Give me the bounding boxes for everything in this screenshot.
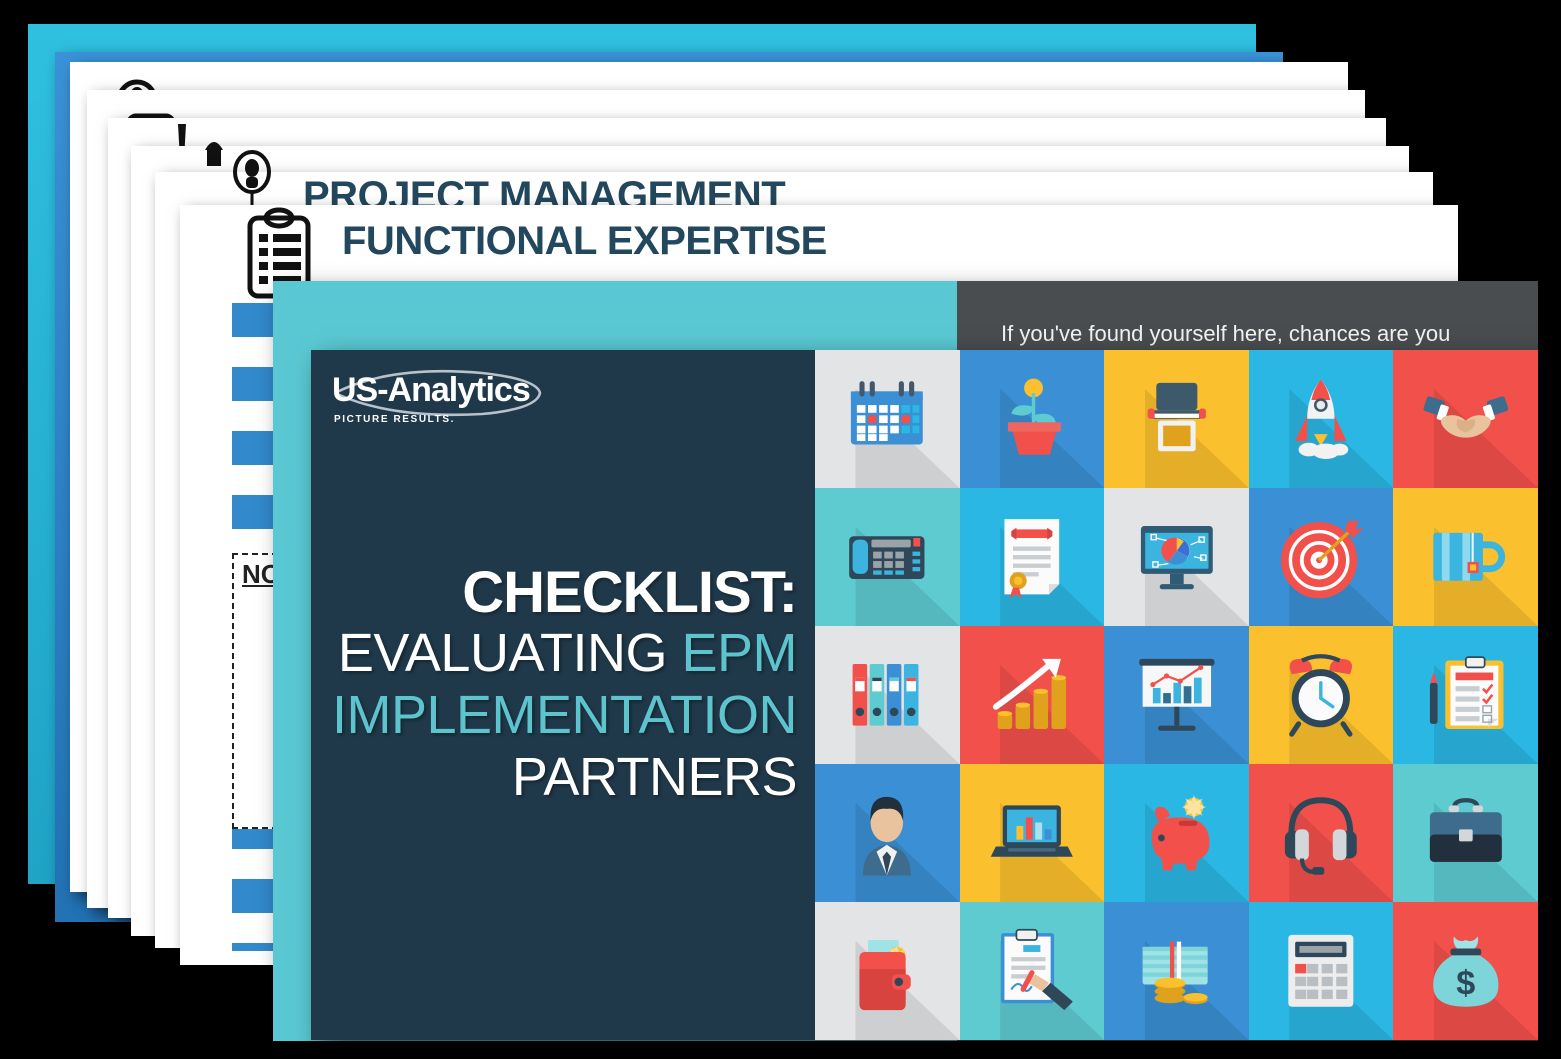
tile-calculator: [1249, 902, 1394, 1040]
cover-title: CHECKLIST: EVALUATING EPM IMPLEMENTATION…: [311, 562, 797, 808]
tile-money-bag: $: [1393, 902, 1538, 1040]
tile-monitor-pie-chart: [1104, 488, 1249, 626]
ebook-cover: US-Analytics PICTURE RESULTS. CHECKLIST:…: [311, 350, 1538, 1040]
cover-title-line-2-plain: EVALUATING: [338, 623, 682, 683]
content-page-body-text: If you've found yourself here, chances a…: [1001, 318, 1471, 350]
cover-title-line-2-accent: EPM: [681, 623, 797, 683]
icon-grid: $: [815, 350, 1538, 1040]
cover-title-line-2: EVALUATING EPM: [311, 623, 797, 685]
tile-target-dartboard: [1249, 488, 1394, 626]
stack-page-heading: FUNCTIONAL EXPERTISE: [342, 221, 827, 261]
tile-binders: [815, 626, 960, 764]
cover-title-line-1: CHECKLIST:: [311, 562, 797, 623]
tile-headset: [1249, 764, 1394, 902]
document-stack-scene: NO PROJECT MANAGEMENT NO: [0, 0, 1561, 1059]
tile-coffee-mug: [1393, 488, 1538, 626]
us-analytics-logo: US-Analytics PICTURE RESULTS.: [332, 371, 547, 433]
tile-growth-coins: [960, 626, 1105, 764]
tile-laptop-chart: [960, 764, 1105, 902]
tile-wallet-cash: [815, 902, 960, 1040]
tile-desk-phone: [815, 488, 960, 626]
tile-plant-growth: [960, 350, 1105, 488]
logo-wordmark: US-Analytics: [332, 373, 530, 407]
cover-left-panel: US-Analytics PICTURE RESULTS. CHECKLIST:…: [311, 350, 815, 1040]
tile-clipboard-checklist: [1393, 626, 1538, 764]
tile-calendar: [815, 350, 960, 488]
cover-title-line-4: PARTNERS: [311, 747, 797, 809]
tile-alarm-clock: [1249, 626, 1394, 764]
tile-presentation-board: [1104, 626, 1249, 764]
cover-icon-grid-panel: $: [815, 350, 1538, 1040]
tile-handshake: [1393, 350, 1538, 488]
tile-cash-stack: [1104, 902, 1249, 1040]
cover-title-line-3: IMPLEMENTATION: [311, 685, 797, 747]
svg-text:$: $: [1456, 965, 1475, 1003]
tile-piggy-bank: [1104, 764, 1249, 902]
tile-briefcase: [1393, 764, 1538, 902]
tile-signing-contract: [960, 902, 1105, 1040]
tile-stamp: [1104, 350, 1249, 488]
logo-tagline: PICTURE RESULTS.: [334, 415, 455, 425]
tile-rocket: [1249, 350, 1394, 488]
tile-businessman-avatar: [815, 764, 960, 902]
tile-certificate: [960, 488, 1105, 626]
